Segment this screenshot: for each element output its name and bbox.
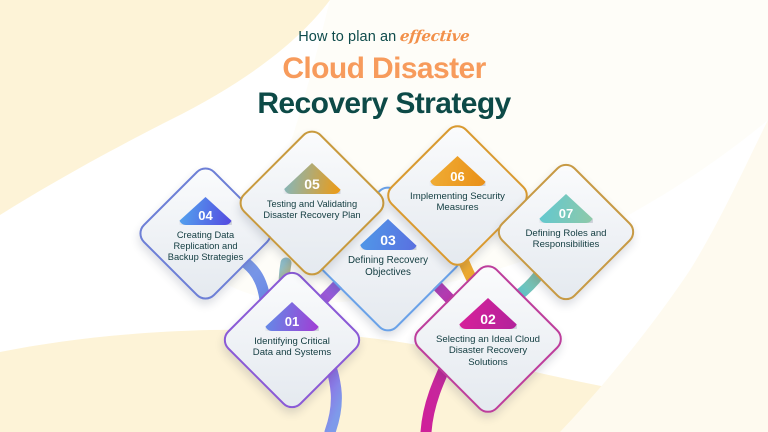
node-06[interactable]: 06Implementing Security Measures [404,142,511,249]
title-line-1: Cloud Disaster [0,52,768,86]
title-line-2: Recovery Strategy [0,87,768,121]
kicker-script-word: effective [400,28,471,45]
node-02[interactable]: 02Selecting an Ideal Cloud Disaster Reco… [432,283,544,395]
node-05-diamond [234,125,390,281]
node-01[interactable]: 01Identifying Critical Data and Systems [240,288,344,392]
infographic-canvas: How to plan an effective Cloud Disaster … [0,0,768,432]
header-kicker: How to plan an effective [0,28,768,46]
header-block: How to plan an effective Cloud Disaster … [0,28,768,120]
node-05[interactable]: 05Testing and Validating Disaster Recove… [257,148,367,258]
node-07[interactable]: 07Defining Roles and Responsibilities [514,180,618,284]
kicker-prefix: How to plan an [298,29,396,45]
node-07-diamond [492,158,639,305]
